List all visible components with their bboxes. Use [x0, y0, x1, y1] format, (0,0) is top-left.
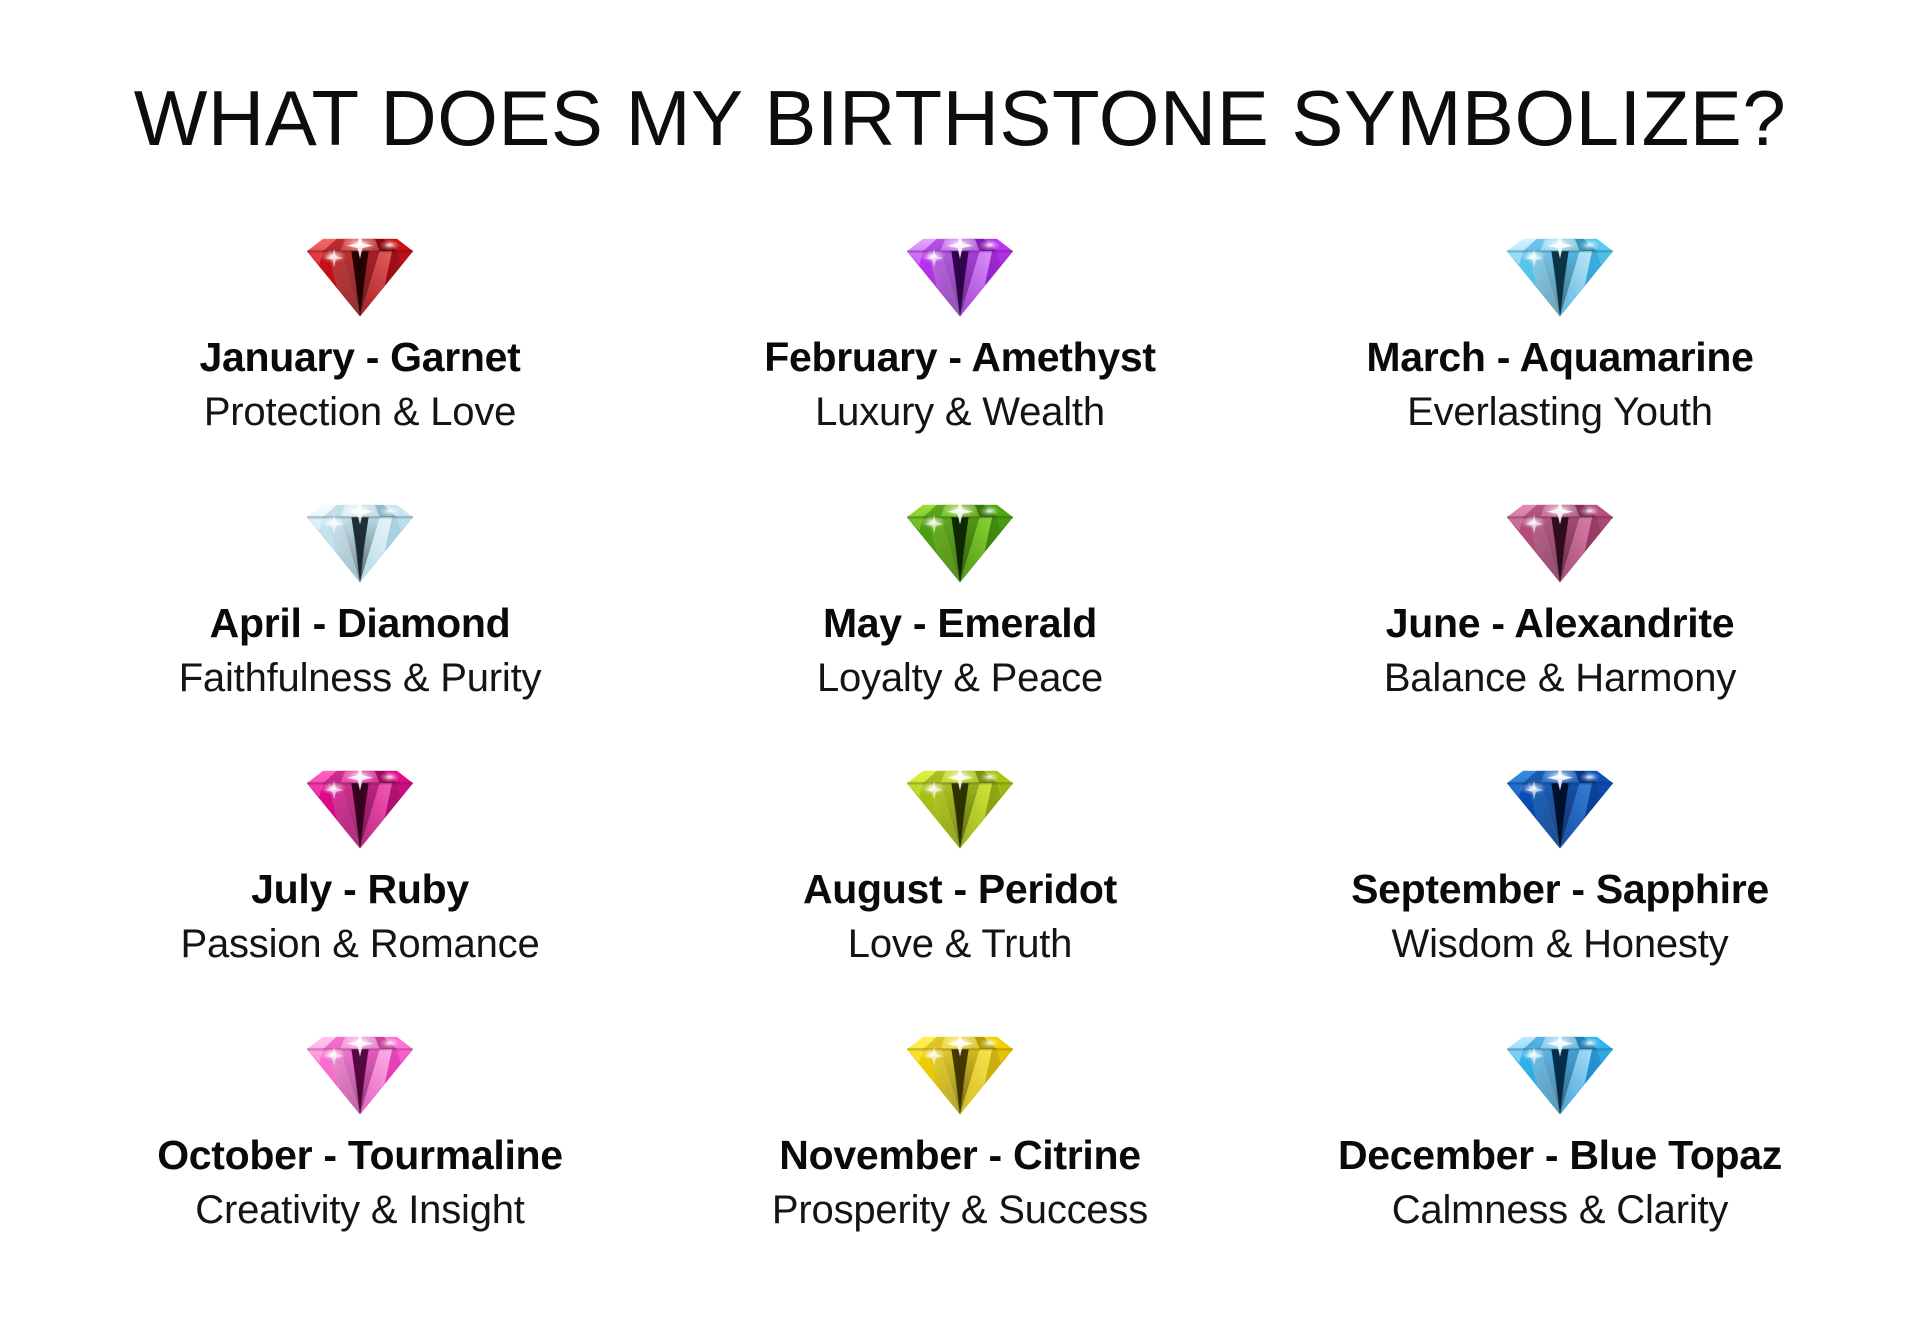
birthstone-name: May - Emerald: [823, 600, 1097, 647]
gem-icon-alexandrite: [1498, 478, 1622, 586]
birthstone-card-march: March - AquamarineEverlasting Youth: [1260, 212, 1860, 478]
gem-icon-citrine: [898, 1010, 1022, 1118]
birthstone-name: February - Amethyst: [764, 334, 1156, 381]
birthstone-meaning: Faithfulness & Purity: [179, 655, 542, 701]
birthstone-name: December - Blue Topaz: [1338, 1132, 1782, 1179]
birthstone-card-july: July - RubyPassion & Romance: [60, 744, 660, 1010]
birthstone-name: March - Aquamarine: [1366, 334, 1753, 381]
gem-icon-aquamarine: [1498, 212, 1622, 320]
gem-icon-diamond: [298, 478, 422, 586]
gem-icon-amethyst: [898, 212, 1022, 320]
gem-icon-emerald: [898, 478, 1022, 586]
birthstone-meaning: Love & Truth: [848, 921, 1072, 967]
birthstone-meaning: Balance & Harmony: [1384, 655, 1736, 701]
birthstone-card-december: December - Blue TopazCalmness & Clarity: [1260, 1010, 1860, 1276]
birthstone-name: July - Ruby: [251, 866, 469, 913]
gem-icon-sapphire: [1498, 744, 1622, 852]
birthstone-meaning: Loyalty & Peace: [817, 655, 1103, 701]
birthstone-card-august: August - PeridotLove & Truth: [660, 744, 1260, 1010]
birthstone-name: November - Citrine: [779, 1132, 1140, 1179]
birthstone-meaning: Luxury & Wealth: [815, 389, 1105, 435]
gem-icon-garnet: [298, 212, 422, 320]
birthstone-card-february: February - AmethystLuxury & Wealth: [660, 212, 1260, 478]
birthstone-name: June - Alexandrite: [1386, 600, 1735, 647]
gem-icon-peridot: [898, 744, 1022, 852]
birthstone-card-april: April - DiamondFaithfulness & Purity: [60, 478, 660, 744]
birthstone-card-may: May - EmeraldLoyalty & Peace: [660, 478, 1260, 744]
birthstone-card-november: November - CitrineProsperity & Success: [660, 1010, 1260, 1276]
birthstone-grid: January - GarnetProtection & Love: [0, 212, 1920, 1276]
page-title: WHAT DOES MY BIRTHSTONE SYMBOLIZE?: [0, 52, 1920, 160]
birthstone-name: September - Sapphire: [1351, 866, 1769, 913]
birthstone-meaning: Creativity & Insight: [195, 1187, 524, 1233]
infographic-page: WHAT DOES MY BIRTHSTONE SYMBOLIZE?: [0, 52, 1920, 1325]
birthstone-meaning: Protection & Love: [204, 389, 516, 435]
birthstone-name: April - Diamond: [210, 600, 511, 647]
birthstone-name: October - Tourmaline: [157, 1132, 563, 1179]
birthstone-meaning: Calmness & Clarity: [1392, 1187, 1728, 1233]
birthstone-meaning: Passion & Romance: [180, 921, 539, 967]
birthstone-card-january: January - GarnetProtection & Love: [60, 212, 660, 478]
gem-icon-blue-topaz: [1498, 1010, 1622, 1118]
gem-icon-tourmaline: [298, 1010, 422, 1118]
birthstone-meaning: Prosperity & Success: [772, 1187, 1148, 1233]
birthstone-meaning: Wisdom & Honesty: [1392, 921, 1729, 967]
gem-icon-ruby: [298, 744, 422, 852]
birthstone-card-june: June - AlexandriteBalance & Harmony: [1260, 478, 1860, 744]
birthstone-card-september: September - SapphireWisdom & Honesty: [1260, 744, 1860, 1010]
birthstone-meaning: Everlasting Youth: [1407, 389, 1713, 435]
birthstone-name: January - Garnet: [199, 334, 520, 381]
birthstone-card-october: October - TourmalineCreativity & Insight: [60, 1010, 660, 1276]
birthstone-name: August - Peridot: [803, 866, 1117, 913]
